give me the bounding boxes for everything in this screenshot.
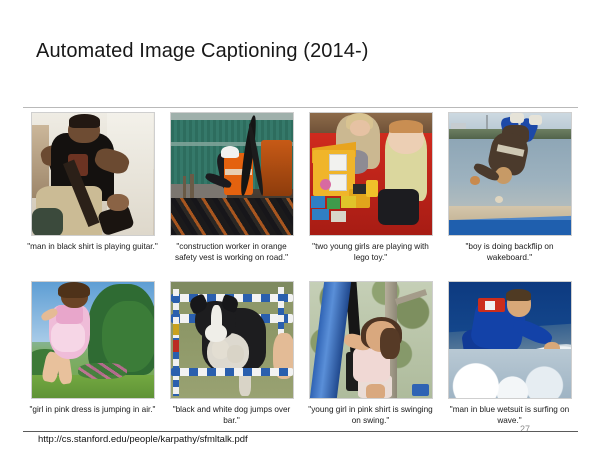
page-number: 27: [520, 424, 530, 434]
example-caption: "girl in pink dress is jumping in air.": [26, 404, 160, 415]
title-divider: [23, 107, 578, 108]
page-title: Automated Image Captioning (2014-): [36, 40, 368, 63]
example-image-swing-girl: [309, 281, 433, 399]
example-image-lego: [309, 112, 433, 236]
example-image-wakeboard: [448, 112, 572, 236]
footer-url: http://cs.stanford.edu/people/karpathy/s…: [38, 434, 248, 445]
example-caption: "black and white dog jumps over bar.": [165, 404, 299, 426]
example-caption: "young girl in pink shirt is swinging on…: [304, 404, 438, 426]
example-cell: "girl in pink dress is jumping in air.": [23, 281, 162, 426]
example-cell: "young girl in pink shirt is swinging on…: [301, 281, 440, 426]
example-image-agility-dog: [170, 281, 294, 399]
caption-examples-grid: "man in black shirt is playing guitar.": [0, 112, 600, 426]
example-image-guitar: [31, 112, 155, 236]
example-image-surfer: [448, 281, 572, 399]
examples-row-2: "girl in pink dress is jumping in air.": [0, 281, 600, 426]
example-cell: "boy is doing backflip on wakeboard.": [440, 112, 579, 263]
example-image-construction: [170, 112, 294, 236]
example-cell: "construction worker in orange safety ve…: [162, 112, 301, 263]
example-caption: "man in black shirt is playing guitar.": [26, 241, 160, 252]
examples-row-1: "man in black shirt is playing guitar.": [0, 112, 600, 263]
footer-divider: [23, 431, 578, 432]
example-cell: "two young girls are playing with lego t…: [301, 112, 440, 263]
slide: Automated Image Captioning (2014-): [0, 0, 600, 450]
example-caption: "man in blue wetsuit is surfing on wave.…: [443, 404, 577, 426]
example-cell: "black and white dog jumps over bar.": [162, 281, 301, 426]
example-cell: "man in black shirt is playing guitar.": [23, 112, 162, 263]
example-cell: "man in blue wetsuit is surfing on wave.…: [440, 281, 579, 426]
example-caption: "boy is doing backflip on wakeboard.": [443, 241, 577, 263]
example-caption: "construction worker in orange safety ve…: [165, 241, 299, 263]
example-caption: "two young girls are playing with lego t…: [304, 241, 438, 263]
example-image-jumping-girl: [31, 281, 155, 399]
